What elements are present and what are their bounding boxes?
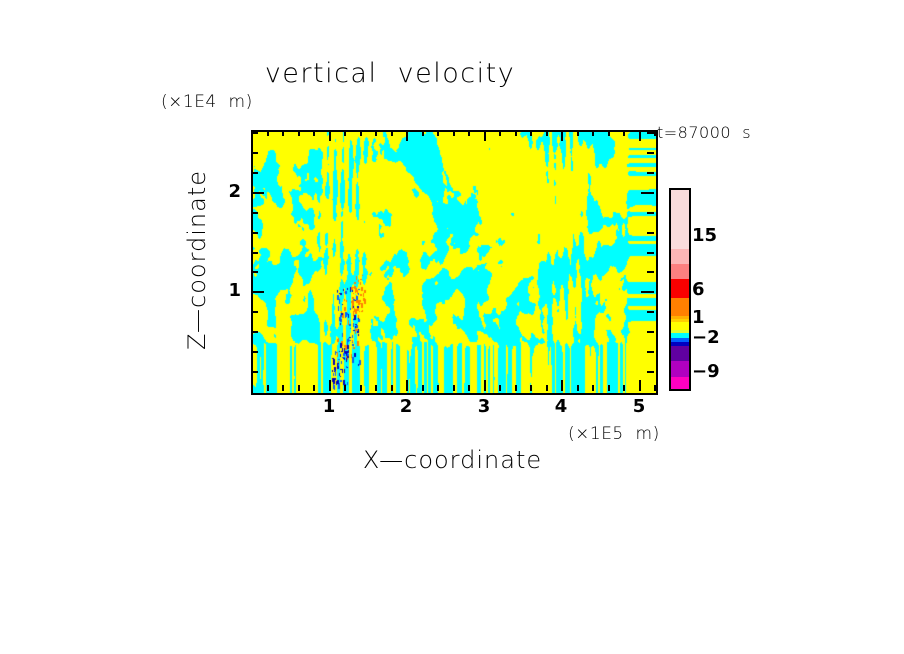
y-tick-label: 1 xyxy=(215,280,241,301)
y-tick-minor-right xyxy=(647,351,654,353)
x-tick-minor xyxy=(422,385,424,391)
y-tick-minor-right xyxy=(647,232,654,234)
colorbar-band xyxy=(671,190,689,229)
time-annotation: t=87000 s xyxy=(657,123,751,142)
y-tick-minor xyxy=(251,132,258,134)
colorbar-tick-label: 15 xyxy=(692,225,717,246)
plot-area xyxy=(251,130,658,395)
y-unit-label: (×1E4 m) xyxy=(161,92,253,112)
y-tick-major-right xyxy=(641,291,654,293)
x-tick-minor xyxy=(592,385,594,391)
y-tick-minor xyxy=(251,252,258,254)
x-tick-minor-top xyxy=(608,130,610,136)
x-tick-minor-top xyxy=(344,130,346,136)
x-tick-minor-top xyxy=(577,130,579,136)
y-tick-minor xyxy=(251,311,258,313)
x-tick-minor xyxy=(608,385,610,391)
x-tick-minor xyxy=(313,385,315,391)
y-tick-minor-right xyxy=(647,331,654,333)
y-tick-minor-right xyxy=(647,252,654,254)
x-tick-minor xyxy=(267,385,269,391)
x-tick-major-top xyxy=(329,130,331,141)
colorbar-band xyxy=(671,264,689,279)
y-tick-minor-right xyxy=(647,371,654,373)
colorbar-tick-label: 6 xyxy=(692,279,705,300)
x-tick-label: 3 xyxy=(469,396,499,417)
x-tick-minor-top xyxy=(499,130,501,136)
y-tick-minor-right xyxy=(647,271,654,273)
x-tick-minor xyxy=(391,385,393,391)
y-tick-minor xyxy=(251,192,258,194)
x-tick-minor-top xyxy=(360,130,362,136)
x-tick-major-top xyxy=(406,130,408,141)
y-tick-minor-right xyxy=(647,152,654,154)
x-tick-minor-top xyxy=(453,130,455,136)
x-tick-minor xyxy=(639,385,641,391)
colorbar-band xyxy=(671,346,689,361)
y-tick-minor xyxy=(251,351,258,353)
colorbar-band xyxy=(671,229,689,249)
y-tick-minor-right xyxy=(647,172,654,174)
x-tick-minor xyxy=(375,385,377,391)
colorbar-band xyxy=(671,249,689,264)
colorbar-tick-label: 1 xyxy=(692,307,705,328)
colorbar-band xyxy=(671,279,689,298)
x-tick-minor xyxy=(298,385,300,391)
x-tick-major-top xyxy=(561,130,563,141)
x-tick-minor xyxy=(499,385,501,391)
x-axis-title: X—coordinate xyxy=(251,446,654,474)
y-axis-title-text: Z—coordinate xyxy=(183,170,211,350)
x-tick-major-top xyxy=(484,130,486,141)
x-tick-minor-top xyxy=(298,130,300,136)
y-tick-minor-right xyxy=(647,311,654,313)
colorbar-tick-label: −9 xyxy=(692,361,720,382)
x-tick-minor xyxy=(282,385,284,391)
y-tick-minor-right xyxy=(647,132,654,134)
x-tick-minor-top xyxy=(282,130,284,136)
x-tick-minor-top xyxy=(267,130,269,136)
x-tick-minor-top xyxy=(437,130,439,136)
colorbar-band xyxy=(671,377,689,389)
colorbar-band xyxy=(671,361,689,377)
x-tick-minor-top xyxy=(515,130,517,136)
y-tick-minor xyxy=(251,371,258,373)
y-tick-minor-right xyxy=(647,212,654,214)
y-tick-minor xyxy=(251,152,258,154)
x-tick-minor xyxy=(546,385,548,391)
x-tick-label: 1 xyxy=(314,396,344,417)
x-tick-minor xyxy=(515,385,517,391)
x-tick-minor-top xyxy=(546,130,548,136)
x-tick-minor-top xyxy=(639,130,641,136)
x-tick-minor xyxy=(453,385,455,391)
y-axis-title: Z—coordinate xyxy=(185,155,209,365)
x-tick-minor-top xyxy=(623,130,625,136)
x-tick-minor xyxy=(654,385,656,391)
x-tick-minor xyxy=(360,385,362,391)
x-tick-minor xyxy=(530,385,532,391)
x-tick-minor-top xyxy=(391,130,393,136)
x-tick-minor xyxy=(468,385,470,391)
y-tick-major xyxy=(251,291,264,293)
x-tick-minor-top xyxy=(468,130,470,136)
x-tick-minor-top xyxy=(422,130,424,136)
colorbar-tick-label: −2 xyxy=(692,327,720,348)
colorbar-band xyxy=(671,322,689,330)
x-tick-minor-top xyxy=(530,130,532,136)
x-tick-minor xyxy=(577,385,579,391)
x-tick-label: 4 xyxy=(546,396,576,417)
x-tick-major xyxy=(329,380,331,391)
x-tick-minor-top xyxy=(654,130,656,136)
x-tick-major xyxy=(406,380,408,391)
x-tick-minor-top xyxy=(592,130,594,136)
y-tick-minor xyxy=(251,172,258,174)
x-tick-major xyxy=(561,380,563,391)
x-tick-label: 2 xyxy=(391,396,421,417)
x-tick-minor-top xyxy=(375,130,377,136)
y-tick-minor xyxy=(251,212,258,214)
vertical-velocity-field xyxy=(253,132,656,393)
colorbar-band xyxy=(671,298,689,316)
x-tick-major xyxy=(484,380,486,391)
y-tick-minor-right xyxy=(647,192,654,194)
y-tick-minor xyxy=(251,331,258,333)
y-tick-minor xyxy=(251,232,258,234)
colorbar xyxy=(669,188,691,391)
x-tick-minor xyxy=(623,385,625,391)
x-tick-minor xyxy=(344,385,346,391)
x-unit-label: (×1E5 m) xyxy=(568,424,660,444)
page-title: vertical velocity xyxy=(0,58,780,89)
y-tick-minor xyxy=(251,271,258,273)
y-tick-label: 2 xyxy=(215,181,241,202)
x-tick-minor-top xyxy=(313,130,315,136)
x-tick-label: 5 xyxy=(624,396,654,417)
x-tick-minor xyxy=(437,385,439,391)
